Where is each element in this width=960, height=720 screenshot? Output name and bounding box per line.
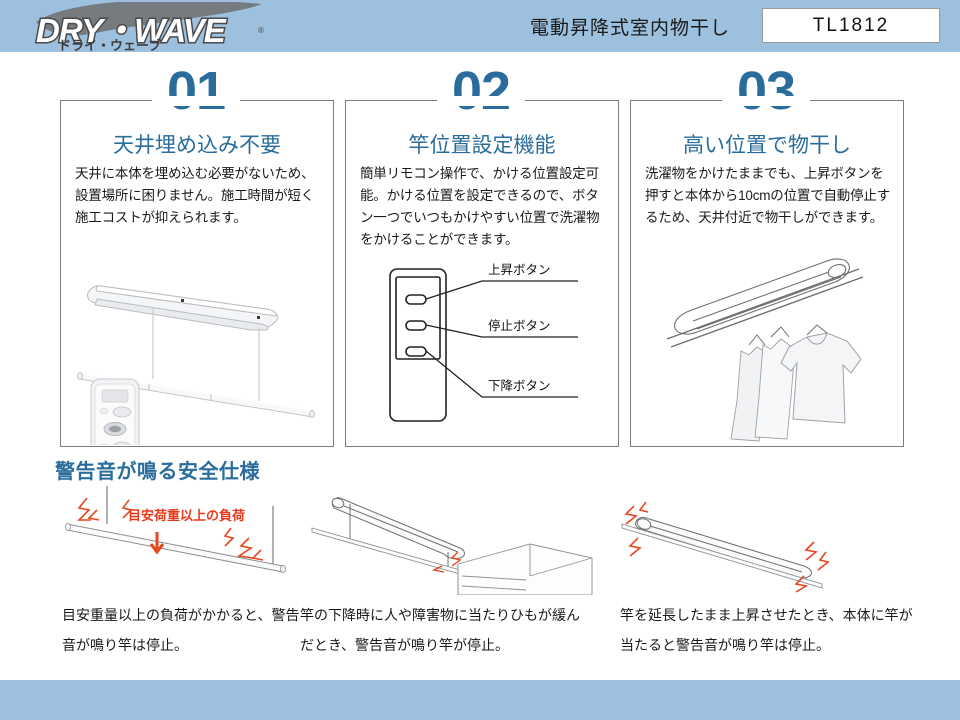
safety-caption-2: 竿の下降時に人や障害物に当たりひもが緩んだとき、警告音が鳴り竿が停止。	[300, 600, 590, 660]
feature-number-02: 02	[345, 68, 617, 114]
feature-title-01: 天井埋め込み不要	[61, 129, 333, 159]
safety-figure-obstacle	[300, 480, 620, 595]
feature-title-02: 竿位置設定機能	[346, 129, 618, 159]
callout-label-stop: 停止ボタン	[488, 315, 551, 334]
feature-body-03: 洗濯物をかけたままでも、上昇ボタンを押すと本体から10cmの位置で自動停止するた…	[645, 163, 891, 229]
safety-figure-pole-collision	[608, 480, 938, 595]
product-category-title: 電動昇降式室内物干し	[530, 13, 730, 40]
registered-mark: ®	[258, 26, 264, 35]
callout-label-up: 上昇ボタン	[488, 259, 551, 278]
figure-laundry-near-ceiling	[631, 251, 903, 445]
callout-label-down: 下降ボタン	[488, 375, 551, 394]
page-footer-band	[0, 680, 960, 720]
model-number: TL1812	[813, 15, 889, 37]
feature-panel-03: 高い位置で物干し 洗濯物をかけたままでも、上昇ボタンを押すと本体から10cmの位…	[630, 100, 904, 447]
number-border-mask-01	[152, 96, 240, 106]
brand-subtitle: ドライ・ウェーブ	[58, 35, 161, 54]
page-header: DRY・WAVE ® ドライ・ウェーブ 電動昇降式室内物干し TL1812	[0, 0, 960, 52]
feature-number-03: 03	[630, 68, 902, 114]
number-border-mask-03	[722, 96, 810, 106]
feature-panel-01: 天井埋め込み不要 天井に本体を埋め込む必要がないため、設置場所に困りません。施工…	[60, 100, 334, 447]
feature-title-03: 高い位置で物干し	[631, 129, 903, 159]
feature-body-01: 天井に本体を埋め込む必要がないため、設置場所に困りません。施工時間が短く施工コス…	[75, 163, 321, 229]
overload-note: 目安荷重以上の負荷	[128, 505, 245, 524]
safety-caption-1: 目安重量以上の負荷がかかると、警告音が鳴り竿は停止。	[62, 600, 312, 660]
model-number-box: TL1812	[762, 8, 940, 43]
number-border-mask-02	[437, 96, 525, 106]
feature-number-01: 01	[60, 68, 332, 114]
brand-logo: DRY・WAVE ® ドライ・ウェーブ	[30, 2, 290, 52]
feature-body-02: 簡単リモコン操作で、かける位置設定可能。かける位置を設定できるので、ボタン一つで…	[360, 163, 606, 251]
feature-panel-02: 竿位置設定機能 簡単リモコン操作で、かける位置設定可能。かける位置を設定できるの…	[345, 100, 619, 447]
safety-caption-3: 竿を延長したまま上昇させたとき、本体に竿が当たると警告音が鳴り竿は停止。	[620, 600, 920, 660]
figure-ceiling-unit-remote	[61, 251, 333, 445]
remote-control-photo	[91, 379, 139, 445]
figure-remote-callouts	[346, 251, 618, 445]
